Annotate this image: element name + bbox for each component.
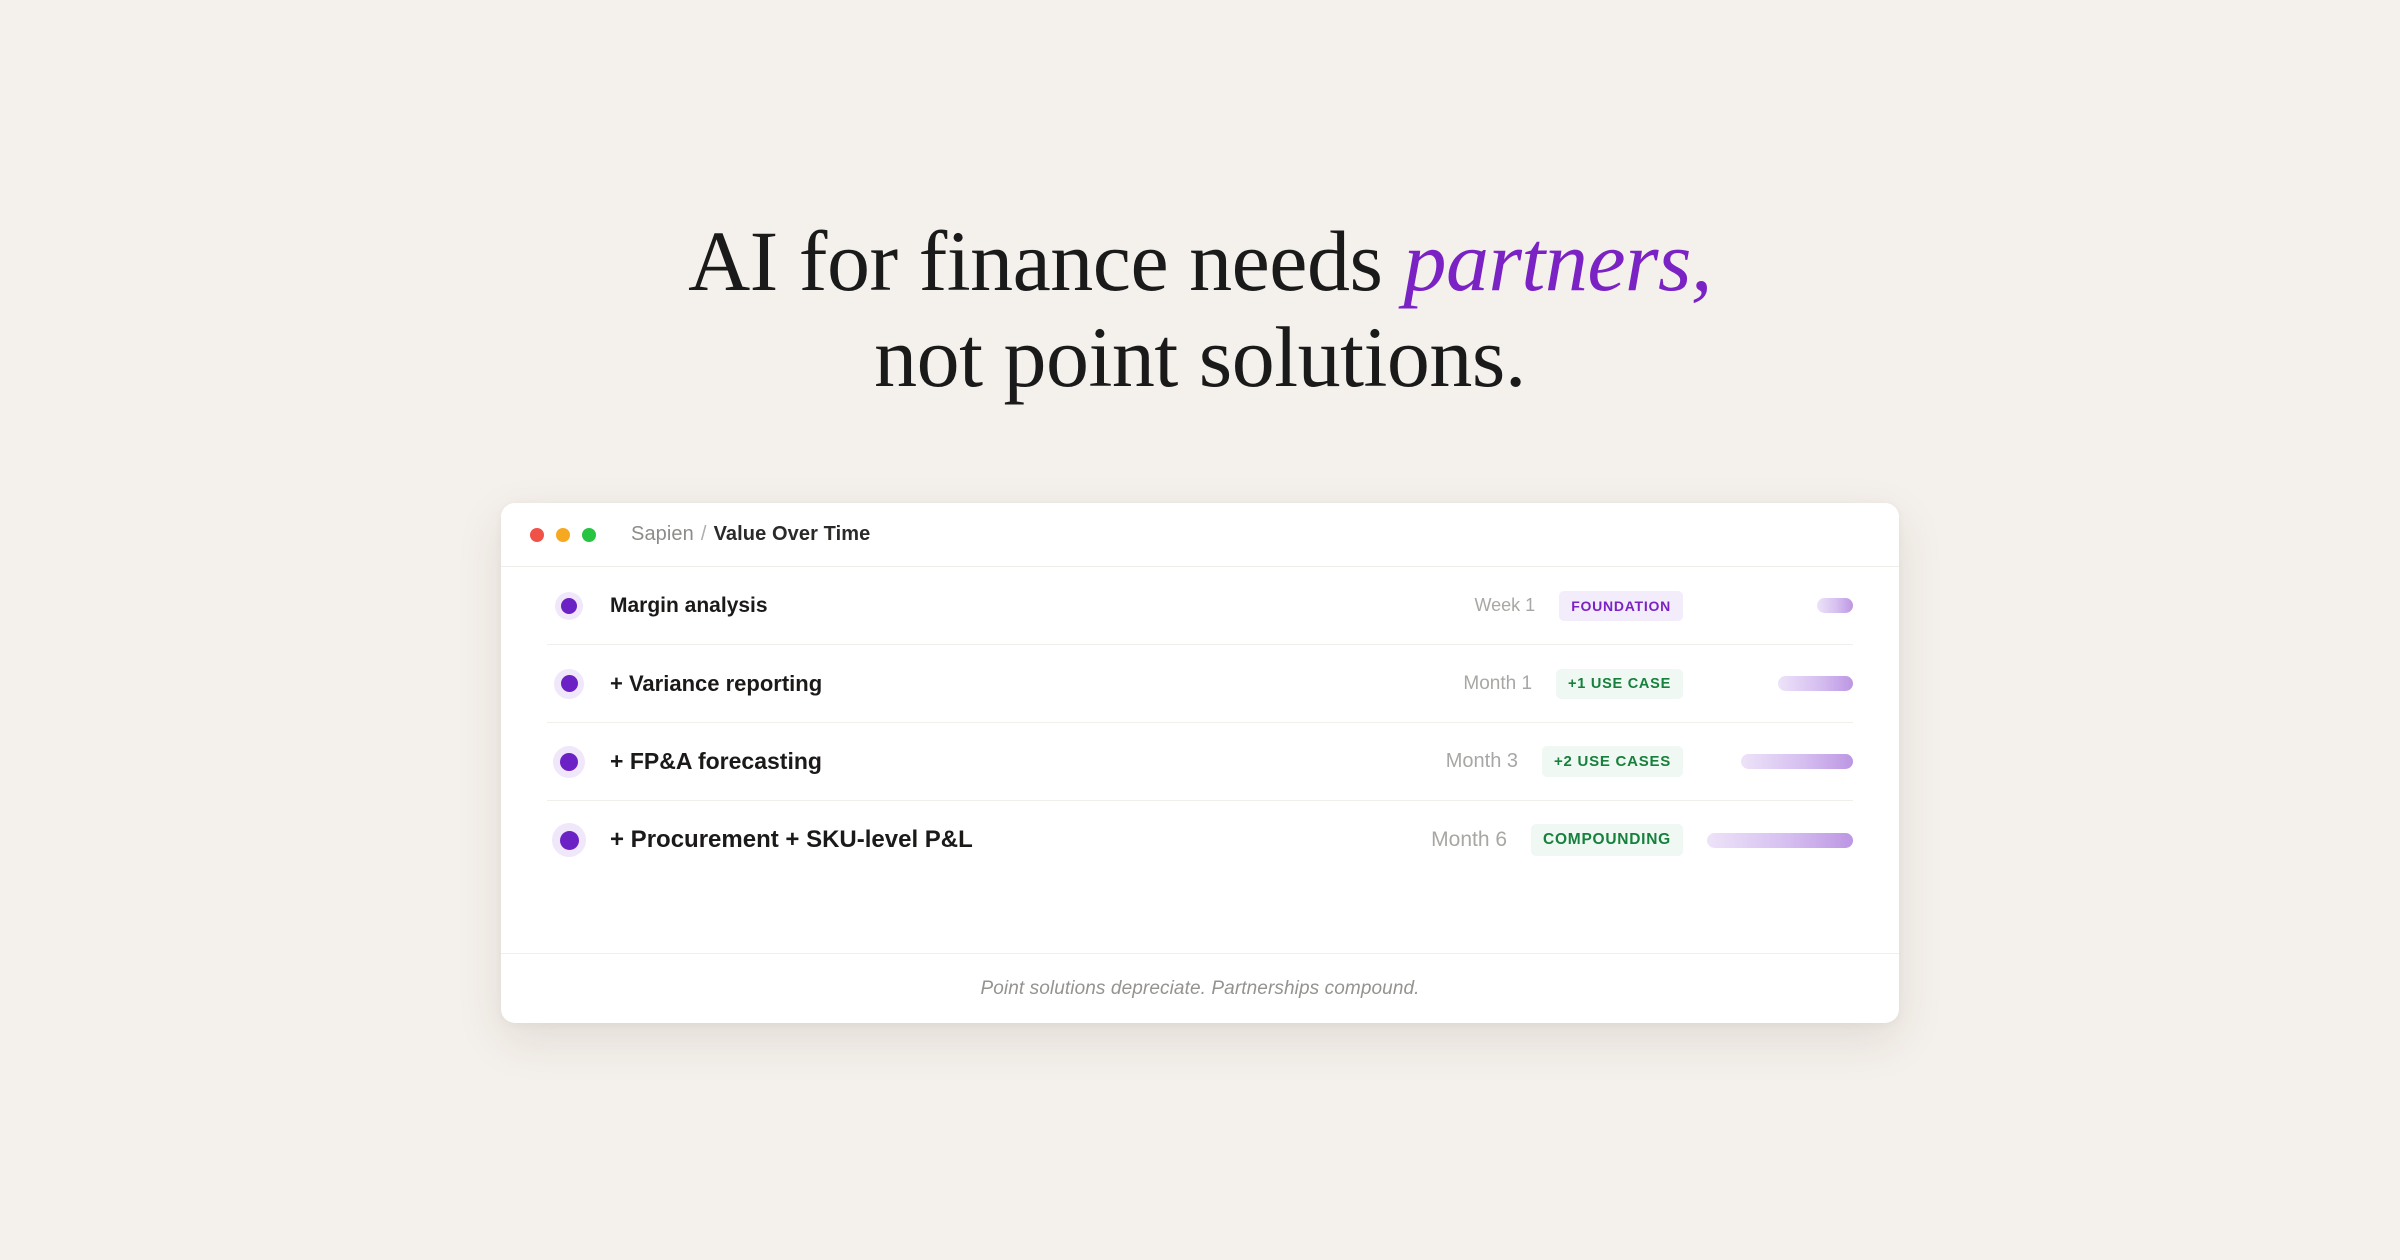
- table-row[interactable]: + Variance reportingMonth 1+1 USE CASE: [547, 645, 1853, 723]
- value-bar-cell: [1683, 598, 1853, 613]
- value-bar: [1778, 676, 1853, 691]
- headline-line-1: AI for finance needs partners,: [0, 213, 2400, 309]
- progress-dot-core: [560, 753, 578, 771]
- breadcrumb: Sapien / Value Over Time: [631, 523, 870, 546]
- progress-dot-icon: [547, 818, 591, 862]
- window-titlebar: Sapien / Value Over Time: [501, 503, 1899, 567]
- table-row[interactable]: + FP&A forecastingMonth 3+2 USE CASES: [547, 723, 1853, 801]
- row-label: + Procurement + SKU-level P&L: [591, 826, 1431, 854]
- status-badge: COMPOUNDING: [1531, 824, 1683, 856]
- breadcrumb-app[interactable]: Sapien: [631, 523, 694, 546]
- breadcrumb-current-page: Value Over Time: [714, 523, 871, 546]
- breadcrumb-separator: /: [694, 523, 714, 546]
- value-bar: [1817, 598, 1853, 613]
- value-bar-cell: [1683, 833, 1853, 848]
- traffic-light-dots: [530, 528, 596, 542]
- browser-window-card: Sapien / Value Over Time Margin analysis…: [501, 503, 1899, 1023]
- row-timing: Month 3: [1446, 750, 1542, 773]
- close-dot-icon[interactable]: [530, 528, 544, 542]
- progress-dot-core: [560, 831, 579, 850]
- value-bar: [1741, 754, 1853, 769]
- value-bar-cell: [1683, 754, 1853, 769]
- row-timing: Week 1: [1475, 595, 1560, 616]
- value-bar: [1707, 833, 1853, 848]
- status-badge: +2 USE CASES: [1542, 746, 1683, 777]
- headline-text-plain: AI for finance needs: [688, 213, 1403, 309]
- progress-dot-icon: [547, 584, 591, 628]
- headline-line-2: not point solutions.: [0, 309, 2400, 405]
- row-label: + Variance reporting: [591, 671, 1463, 697]
- status-badge: FOUNDATION: [1559, 591, 1683, 621]
- card-footer: Point solutions depreciate. Partnerships…: [501, 953, 1899, 1023]
- table-row[interactable]: + Procurement + SKU-level P&LMonth 6COMP…: [547, 801, 1853, 879]
- status-badge: +1 USE CASE: [1556, 669, 1683, 699]
- table-row[interactable]: Margin analysisWeek 1FOUNDATION: [547, 567, 1853, 645]
- value-bar-cell: [1683, 676, 1853, 691]
- timeline-rows: Margin analysisWeek 1FOUNDATION+ Varianc…: [501, 567, 1899, 879]
- row-timing: Month 1: [1463, 673, 1556, 695]
- progress-dot-core: [561, 598, 577, 614]
- maximize-dot-icon[interactable]: [582, 528, 596, 542]
- progress-dot-core: [561, 675, 578, 692]
- row-label: + FP&A forecasting: [591, 748, 1446, 775]
- minimize-dot-icon[interactable]: [556, 528, 570, 542]
- row-timing: Month 6: [1431, 828, 1531, 852]
- page-root: AI for finance needs partners, not point…: [0, 0, 2400, 1260]
- page-title: AI for finance needs partners, not point…: [0, 213, 2400, 406]
- progress-dot-icon: [547, 740, 591, 784]
- headline-text-accent: partners,: [1403, 213, 1711, 309]
- progress-dot-icon: [547, 662, 591, 706]
- row-label: Margin analysis: [591, 594, 1475, 618]
- footer-caption: Point solutions depreciate. Partnerships…: [980, 978, 1419, 1000]
